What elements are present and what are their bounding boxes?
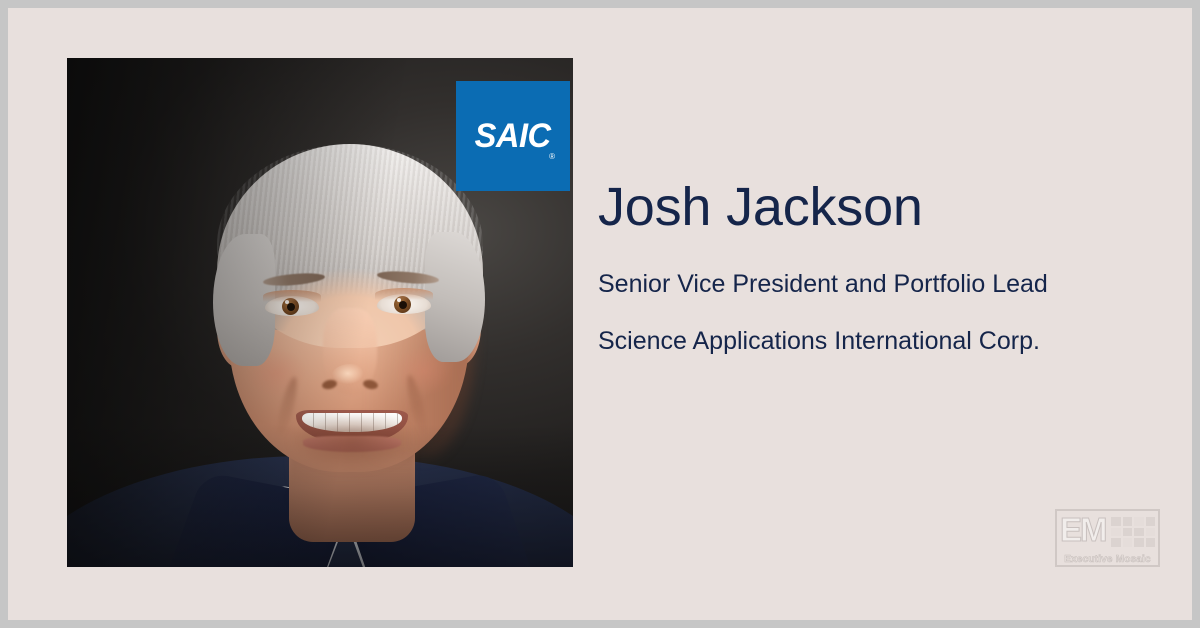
saic-logo: SAIC ® (456, 81, 570, 191)
registered-trademark-icon: ® (549, 153, 555, 161)
mosaic-tile (1123, 538, 1133, 547)
mosaic-tile (1111, 517, 1121, 526)
executive-mosaic-watermark: EM Executive Mosaic (1055, 509, 1160, 567)
person-details: Josh Jackson Senior Vice President and P… (598, 178, 1158, 357)
mosaic-tile (1146, 517, 1156, 526)
card-canvas: SAIC ® Josh Jackson Senior Vice Presiden… (8, 8, 1192, 620)
mosaic-tile (1134, 528, 1144, 537)
mosaic-tile (1146, 538, 1156, 547)
mosaic-tile (1111, 528, 1121, 537)
mosaic-tile (1146, 528, 1156, 537)
person-company: Science Applications International Corp. (598, 326, 1158, 357)
mosaic-tile (1111, 538, 1121, 547)
mosaic-grid-icon (1111, 517, 1155, 547)
watermark-label: Executive Mosaic (1055, 555, 1160, 565)
saic-wordmark-text: SAIC (475, 119, 551, 153)
person-name: Josh Jackson (598, 178, 1158, 236)
mosaic-tile (1134, 517, 1144, 526)
mosaic-tile (1123, 528, 1133, 537)
mosaic-tile (1134, 538, 1144, 547)
headshot-photo: SAIC ® (67, 58, 573, 567)
person-title: Senior Vice President and Portfolio Lead (598, 269, 1158, 300)
watermark-monogram: EM (1060, 513, 1106, 546)
promo-card: SAIC ® Josh Jackson Senior Vice Presiden… (0, 0, 1200, 628)
mosaic-tile (1123, 517, 1133, 526)
